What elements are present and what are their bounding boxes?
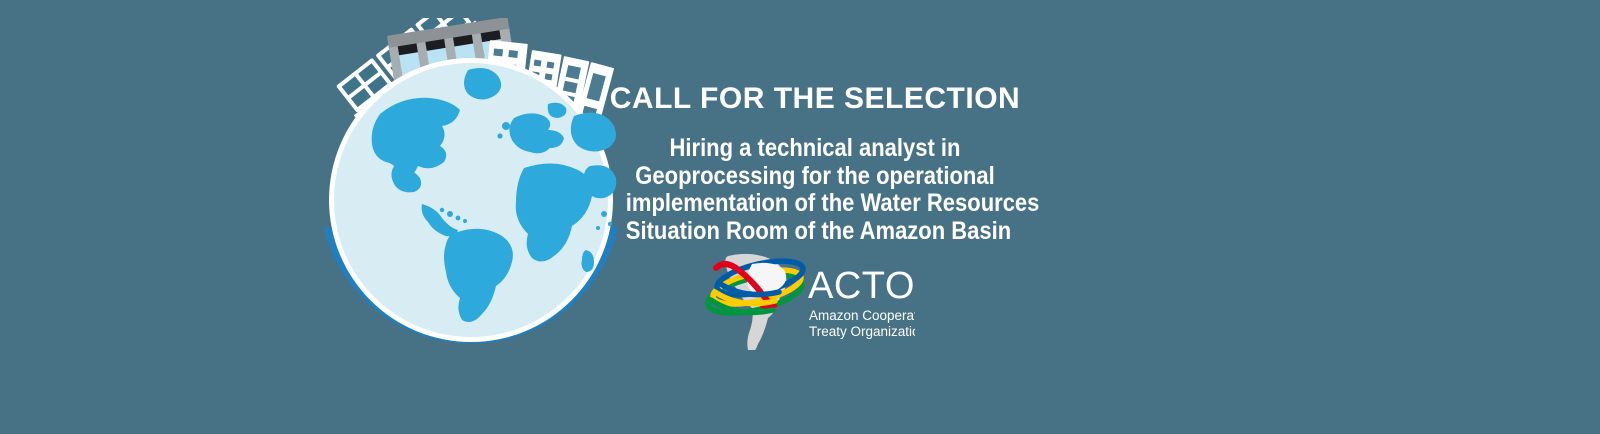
logo-acronym: ACTO xyxy=(808,265,915,307)
page-title: CALL FOR THE SELECTION xyxy=(600,84,1030,114)
job-description: Hiring a technical analyst in Geoprocess… xyxy=(626,135,1004,245)
banner-root: CALL FOR THE SELECTION Hiring a technica… xyxy=(0,0,1600,434)
acto-logo: ACTO Amazon Cooperation Treaty Organizat… xyxy=(700,250,915,350)
globe-illustration xyxy=(318,18,624,363)
subhead-line-1: Hiring a technical analyst in xyxy=(626,135,1004,163)
subhead-line-4: Situation Room of the Amazon Basin xyxy=(626,218,1004,246)
text-block: CALL FOR THE SELECTION Hiring a technica… xyxy=(600,84,1030,245)
subhead-line-3: implementation of the Water Resources xyxy=(626,190,1004,218)
logo-name-line-1: Amazon Cooperation xyxy=(809,308,915,323)
subhead-line-2: Geoprocessing for the operational xyxy=(626,163,1004,191)
logo-name-line-2: Treaty Organization xyxy=(809,324,915,339)
